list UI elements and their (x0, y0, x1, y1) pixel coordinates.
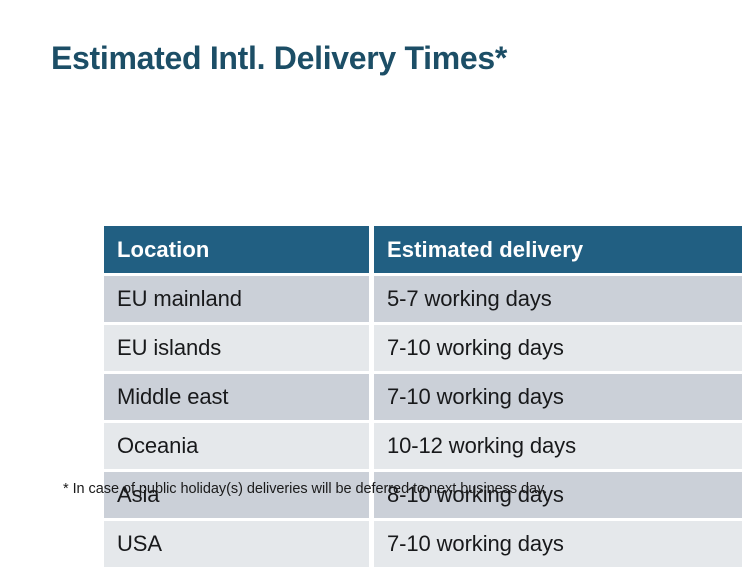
table-row: USA 7-10 working days (104, 521, 742, 567)
cell-location: EU mainland (104, 276, 369, 322)
table-body: EU mainland 5-7 working days EU islands … (104, 276, 742, 567)
table-row: Middle east 7-10 working days (104, 374, 742, 420)
cell-location: USA (104, 521, 369, 567)
table-row: EU islands 7-10 working days (104, 325, 742, 371)
column-header-location: Location (104, 226, 369, 273)
column-header-estimated-delivery: Estimated delivery (374, 226, 742, 273)
cell-location: Middle east (104, 374, 369, 420)
table-row: EU mainland 5-7 working days (104, 276, 742, 322)
cell-delivery: 5-7 working days (374, 276, 742, 322)
cell-location: EU islands (104, 325, 369, 371)
page-title: Estimated Intl. Delivery Times* (51, 36, 507, 80)
cell-location: Oceania (104, 423, 369, 469)
cell-delivery: 7-10 working days (374, 521, 742, 567)
table-row: Oceania 10-12 working days (104, 423, 742, 469)
cell-delivery: 7-10 working days (374, 374, 742, 420)
table-header-row: Location Estimated delivery (104, 226, 742, 273)
table-header: Location Estimated delivery (104, 226, 742, 273)
cell-delivery: 10-12 working days (374, 423, 742, 469)
footnote-text: * In case of public holiday(s) deliverie… (63, 481, 547, 497)
delivery-times-page: Estimated Intl. Delivery Times* Location… (0, 0, 745, 536)
delivery-times-table: Location Estimated delivery EU mainland … (99, 223, 745, 570)
cell-delivery: 7-10 working days (374, 325, 742, 371)
